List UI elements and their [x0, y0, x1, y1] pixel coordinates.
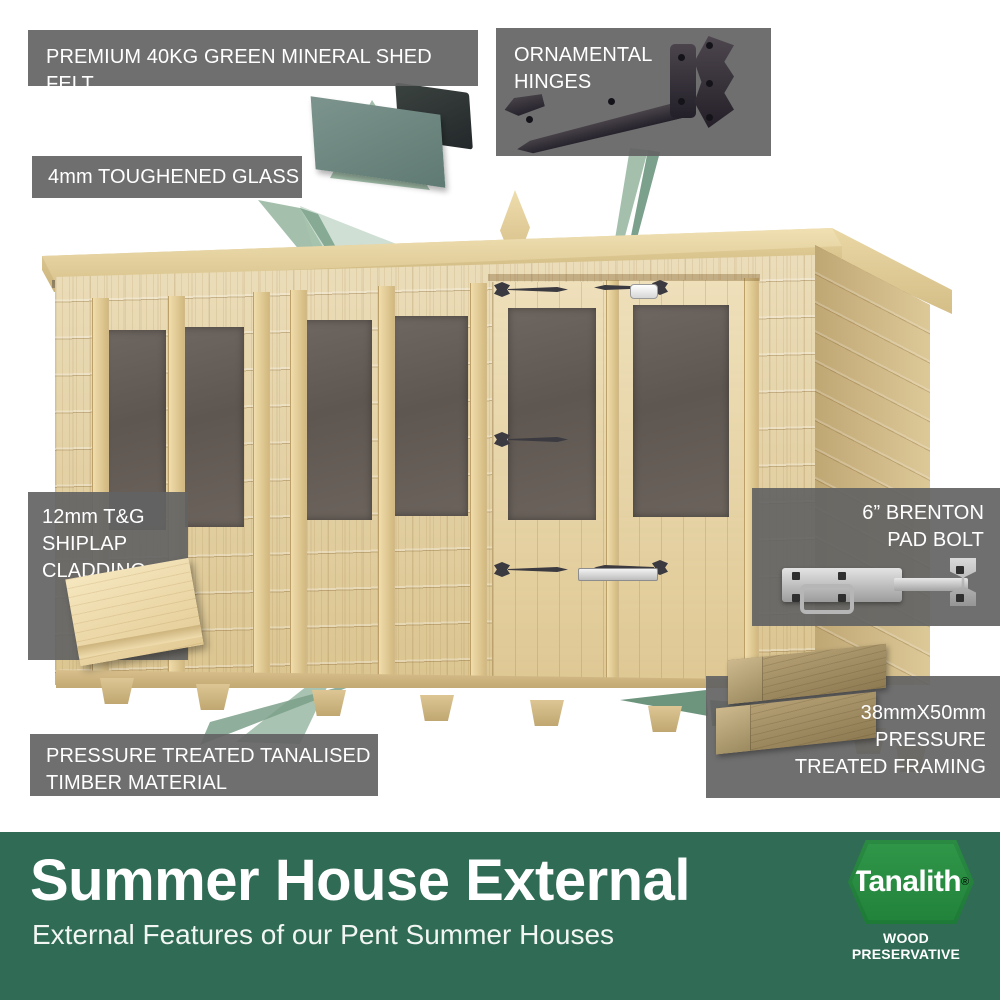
floor-bearer-2 [196, 684, 230, 710]
felt-roll-photo [313, 88, 473, 193]
floor-bearer-6 [648, 706, 682, 732]
callout-felt: PREMIUM 40KG GREEN MINERAL SHED FELT [28, 30, 478, 86]
door-centre-stile [606, 280, 619, 686]
footer-banner: Summer House External External Features … [0, 832, 1000, 1000]
banner-title: Summer House External [30, 850, 690, 912]
callout-hinges: ORNAMENTAL HINGES [496, 28, 771, 156]
callout-hinges-label: ORNAMENTAL HINGES [514, 42, 771, 96]
pad-bolt-screw-4 [838, 594, 846, 602]
hinge-rivet-7 [706, 114, 713, 121]
banner-subtitle: External Features of our Pent Summer Hou… [32, 918, 614, 952]
door-name-plate [630, 284, 658, 299]
floor-bearer-4 [420, 695, 454, 721]
callout-glass: 4mm TOUGHENED GLASS [32, 156, 302, 198]
tanalith-logo-badge-inner: Tanalith® [852, 844, 970, 920]
window-mullion-3 [378, 286, 395, 680]
pad-bolt-screw-3 [838, 572, 846, 580]
infographic-canvas: PREMIUM 40KG GREEN MINERAL SHED FELT ORN… [0, 0, 1000, 1000]
pad-bolt-screw-6 [956, 594, 964, 602]
callout-framing-label: 38mmX50mm PRESSURE TREATED FRAMING [706, 700, 986, 781]
door-glass-left [508, 308, 596, 520]
pad-bolt-shaft [894, 578, 968, 591]
callout-padbolt: 6” BRENTON PAD BOLT [752, 488, 1000, 626]
window-pane-3 [300, 320, 372, 520]
callout-glass-label: 4mm TOUGHENED GLASS [48, 164, 302, 191]
pad-bolt-screw-5 [956, 566, 964, 574]
floor-bearer-3 [312, 690, 346, 716]
hinge-rivet-2 [608, 98, 615, 105]
tanalith-logo: Tanalith® WOOD PRESERVATIVE [830, 838, 982, 958]
pad-bolt-screw-2 [792, 594, 800, 602]
door-glass-right [633, 305, 729, 517]
window-mullion-4 [470, 283, 487, 677]
tanalith-registered-mark: ® [961, 876, 969, 888]
tanalith-logo-subtitle: WOOD PRESERVATIVE [830, 930, 982, 962]
pad-bolt-screw-1 [792, 572, 800, 580]
callout-padbolt-label: 6” BRENTON PAD BOLT [752, 500, 984, 554]
window-mullion-2 [290, 290, 307, 682]
door-pad-bolt[interactable] [578, 568, 658, 581]
door-lintel [488, 274, 760, 281]
floor-bearer-5 [530, 700, 564, 726]
callout-felt-label: PREMIUM 40KG GREEN MINERAL SHED FELT [46, 44, 462, 98]
wall-post-mid [253, 292, 270, 684]
hinge-rivet-4 [678, 98, 685, 105]
callout-treated: PRESSURE TREATED TANALISED TIMBER MATERI… [30, 734, 378, 796]
tanalith-logo-word: Tanalith [853, 865, 961, 899]
window-pane-4 [390, 316, 468, 516]
pad-bolt-photo [782, 550, 997, 608]
hinge-rivet-1 [526, 116, 533, 123]
floor-bearer-1 [100, 678, 134, 704]
callout-treated-label: PRESSURE TREATED TANALISED TIMBER MATERI… [46, 743, 378, 824]
